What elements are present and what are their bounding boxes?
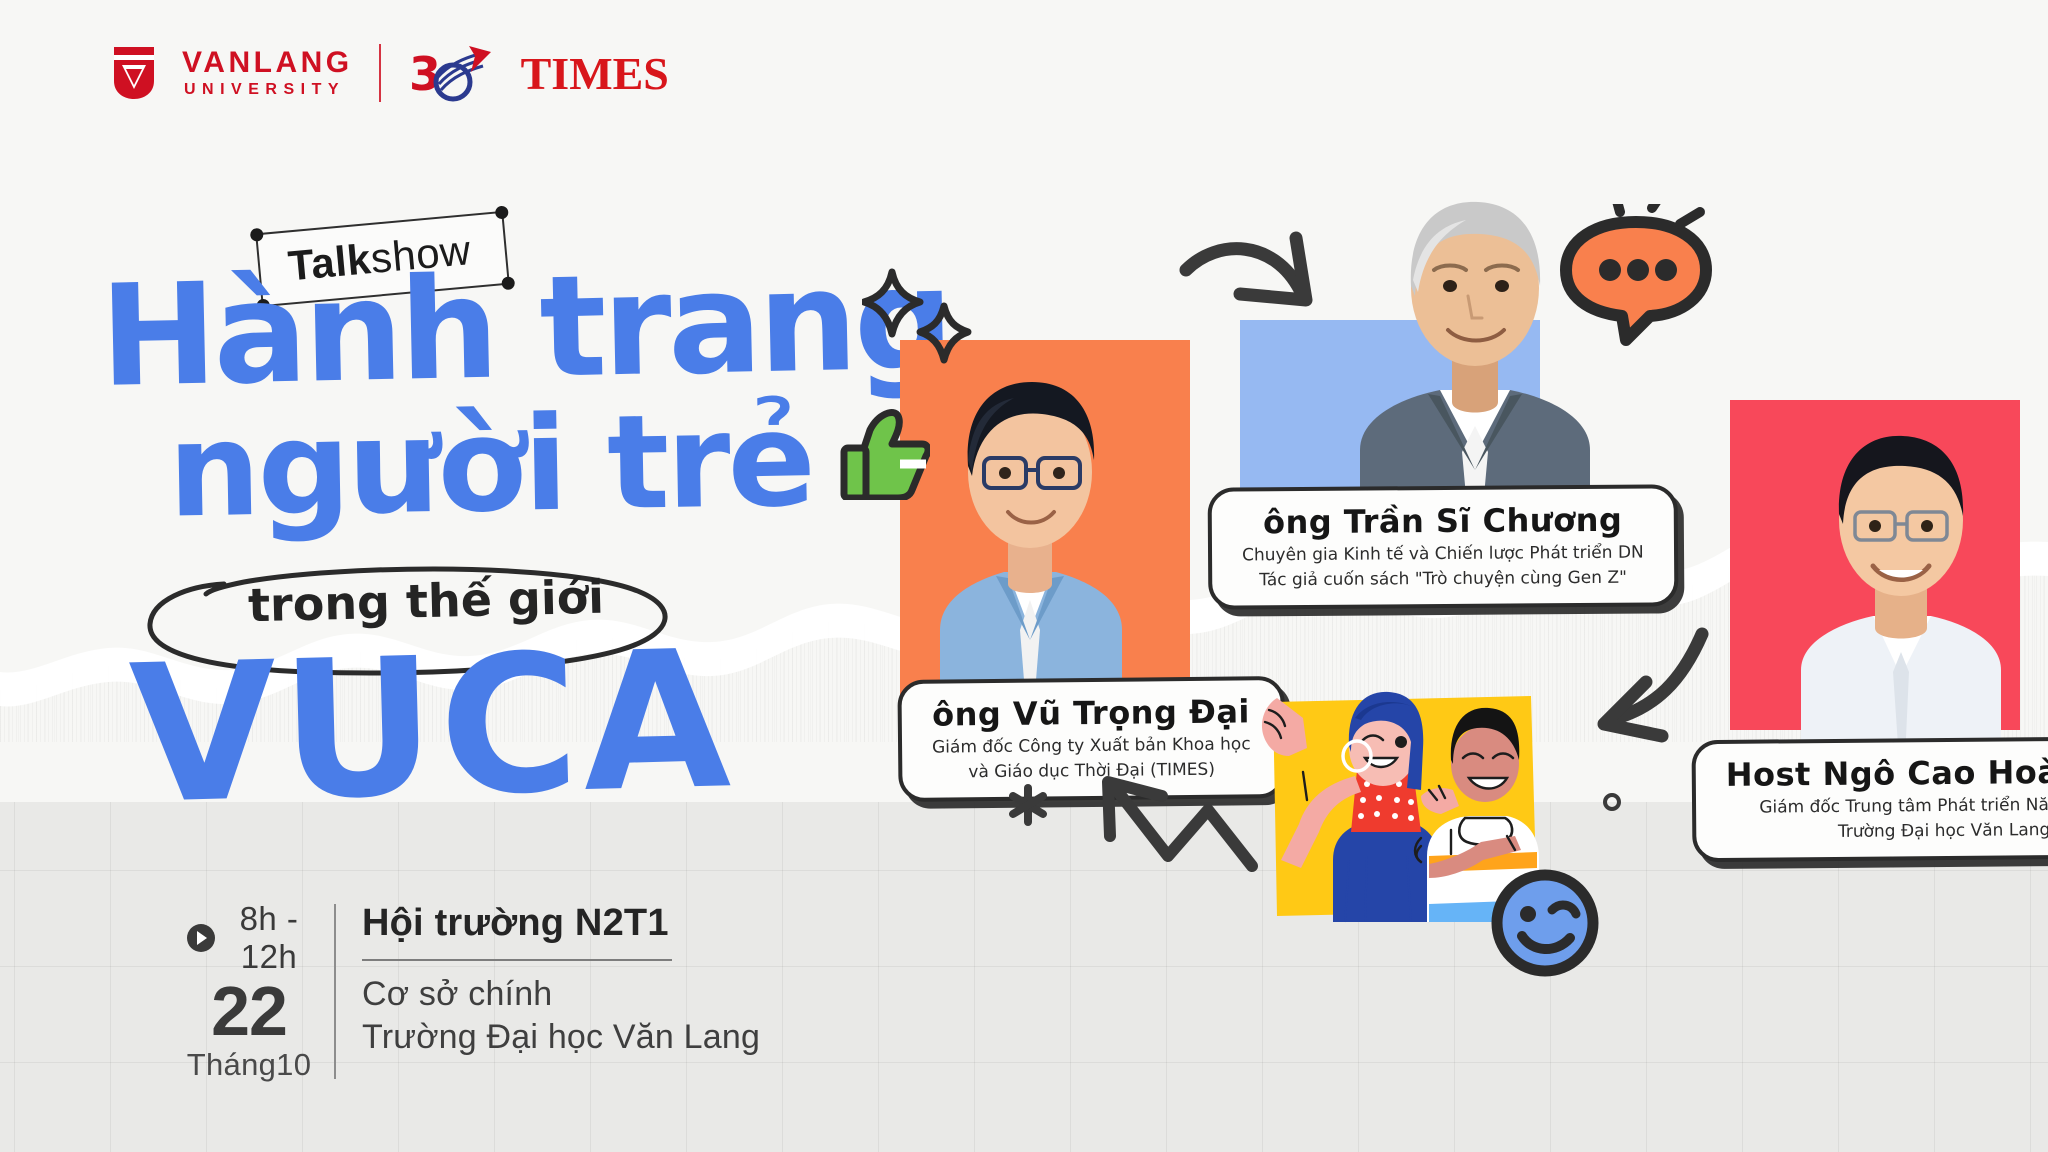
speaker-2-role-line-1: Chuyên gia Kinh tế và Chiến lược Phát tr… [1242,542,1644,567]
footer-horizontal-divider [362,959,672,961]
title-vuca: VUCA [128,630,736,826]
event-time-row: 8h - 12h [186,900,312,976]
sparkle-icon [862,268,978,378]
curved-arrow-icon [1550,620,1710,750]
speaker-3-role-line-1: Giám đốc Trung tâm Phát triển Năng lực S… [1726,793,2048,819]
times-logo: TIMES [521,47,669,100]
play-circle-icon [186,923,216,953]
event-venue: Hội trường N2T1 [362,902,760,945]
speaker-2-name: ông Trần Sĩ Chương [1242,501,1644,542]
logo-bar: VANLANG UNIVERSITY 3 TIMES [112,40,669,106]
speaker-2-role-line-2: Tác giả cuốn sách "Trò chuyện cùng Gen Z… [1242,567,1644,592]
selection-handle-icon[interactable] [250,228,264,242]
zigzag-arrow-icon [1090,770,1270,910]
vanlang-wordmark: VANLANG UNIVERSITY [182,48,353,98]
vanlang-shield-icon [112,45,156,101]
asterisk-icon [1005,782,1051,828]
title-line-1: Hành trang [99,253,952,404]
dot-icon [1600,790,1624,814]
logo-divider [379,44,381,102]
title-line-2: người trẻ [167,398,814,533]
university-subtitle: UNIVERSITY [182,82,353,98]
speech-bubble-icon [1548,204,1738,364]
poster-canvas: VANLANG UNIVERSITY 3 TIMES Talkshow Hành… [0,0,2048,1152]
footer-vertical-divider [334,904,336,1079]
speaker-3-name: Host Ngô Cao Hoài Linh [1726,752,2048,794]
curved-arrow-icon [1178,228,1348,348]
speaker-1-role-line-1: Giám đốc Công ty Xuất bản Khoa học [932,733,1251,758]
speaker-2-name-card: ông Trần Sĩ Chương Chuyên gia Kinh tế và… [1208,484,1679,609]
speaker-3-name-card: Host Ngô Cao Hoài Linh Giám đốc Trung tâ… [1691,736,2048,863]
event-day: 22 [186,978,312,1045]
wink-smiley-icon [1490,868,1600,978]
event-time: 8h - 12h [226,900,312,976]
event-campus-line-1: Cơ sở chính [362,973,760,1016]
speaker-1-name: ông Vũ Trọng Đại [932,692,1251,733]
speaker-3-photo [1755,370,2045,760]
event-campus-line-2: Trường Đại học Văn Lang [362,1016,760,1059]
university-name: VANLANG [182,48,353,78]
event-location-block: Hội trường N2T1 Cơ sở chính Trường Đại h… [362,900,760,1083]
speaker-3-role-line-2: Trường Đại học Văn Lang [1726,818,2048,844]
anniversary-30-icon: 3 [407,42,495,104]
thumbs-up-icon [840,404,930,500]
event-date-block: 8h - 12h 22 Tháng10 [186,900,326,1083]
event-month: Tháng10 [186,1047,312,1083]
event-details: 8h - 12h 22 Tháng10 Hội trường N2T1 Cơ s… [186,900,760,1083]
